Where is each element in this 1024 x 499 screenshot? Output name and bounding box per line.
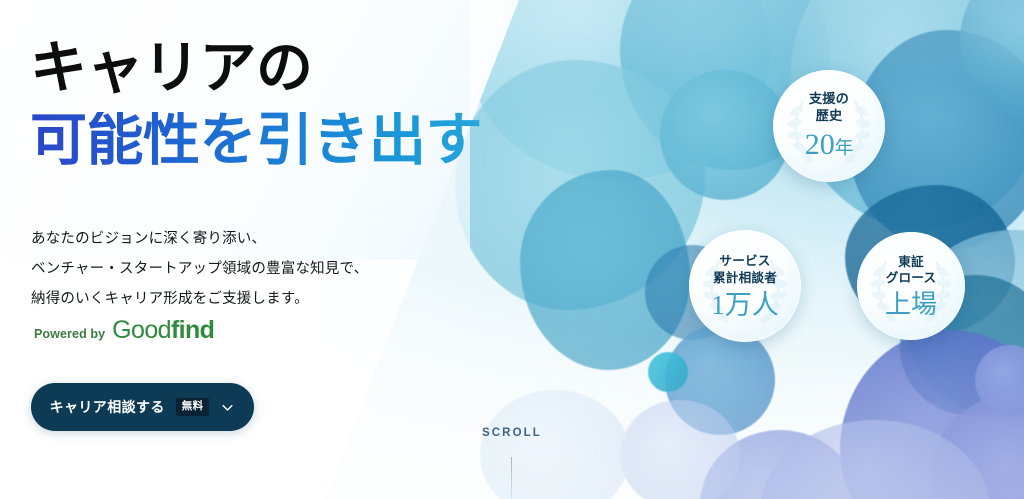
goodfind-logo: Goodfind (112, 318, 214, 343)
badge-value-number: 1万人 (711, 290, 779, 320)
chevron-down-icon (220, 400, 235, 415)
scroll-line (511, 457, 512, 499)
badge-value-number: 20 (805, 128, 835, 161)
badge-caption-line-2: 累計相談者 (713, 270, 777, 286)
badge-caption: サービス 累計相談者 (713, 253, 777, 285)
hero-content: キャリアの 可能性を引き出す あなたのビジョンに深く寄り添い、 ベンチャー・スタ… (0, 0, 520, 499)
laurel-wreath-icon (689, 230, 801, 342)
powered-by-label: Powered by (34, 327, 105, 343)
headline-line-2: 可能性を引き出す (30, 112, 500, 169)
badge-value-number: 上場 (885, 290, 937, 319)
badge-tse-growth-listing: 東証 グロース 上場 (857, 232, 965, 340)
hero-section: キャリアの 可能性を引き出す あなたのビジョンに深く寄り添い、 ベンチャー・スタ… (0, 0, 1024, 499)
description-line-1: あなたのビジョンに深く寄り添い、 (31, 224, 491, 254)
badge-value: 1万人 (711, 292, 779, 319)
free-badge: 無料 (176, 398, 210, 416)
badge-caption-line-1: 支援の (809, 91, 849, 108)
badge-cumulative-clients: サービス 累計相談者 1万人 (689, 230, 801, 342)
description-line-3: 納得のいくキャリア形成をご支援します。 (31, 284, 491, 314)
page-title: キャリアの 可能性を引き出す (30, 40, 500, 169)
brand-name-bold: find (171, 316, 214, 344)
headline-line-1: キャリアの (30, 40, 500, 97)
badge-caption: 支援の 歴史 (809, 91, 849, 125)
badge-caption-line-1: 東証 (886, 254, 937, 270)
laurel-wreath-icon (773, 70, 885, 182)
brand-name-light: Good (112, 316, 171, 344)
hero-description: あなたのビジョンに深く寄り添い、 ベンチャー・スタートアップ領域の豊富な知見で、… (31, 224, 491, 314)
powered-by-brand: Powered by Goodfind (34, 318, 214, 343)
scroll-label: SCROLL (482, 427, 542, 439)
career-consultation-button[interactable]: キャリア相談する 無料 (31, 383, 254, 431)
badge-caption-line-2: グロース (886, 270, 937, 286)
badge-caption: 東証 グロース (886, 254, 937, 286)
badge-caption-line-1: サービス (713, 253, 777, 269)
scroll-indicator[interactable]: SCROLL (482, 427, 542, 499)
badge-value-unit: 年 (835, 138, 854, 159)
badge-support-history: 支援の 歴史 20年 (773, 70, 885, 182)
cta-label: キャリア相談する (50, 397, 165, 417)
badge-caption-line-2: 歴史 (809, 108, 849, 125)
description-line-2: ベンチャー・スタートアップ領域の豊富な知見で、 (31, 254, 491, 284)
badge-value: 上場 (885, 292, 937, 318)
badge-value: 20年 (805, 130, 854, 160)
